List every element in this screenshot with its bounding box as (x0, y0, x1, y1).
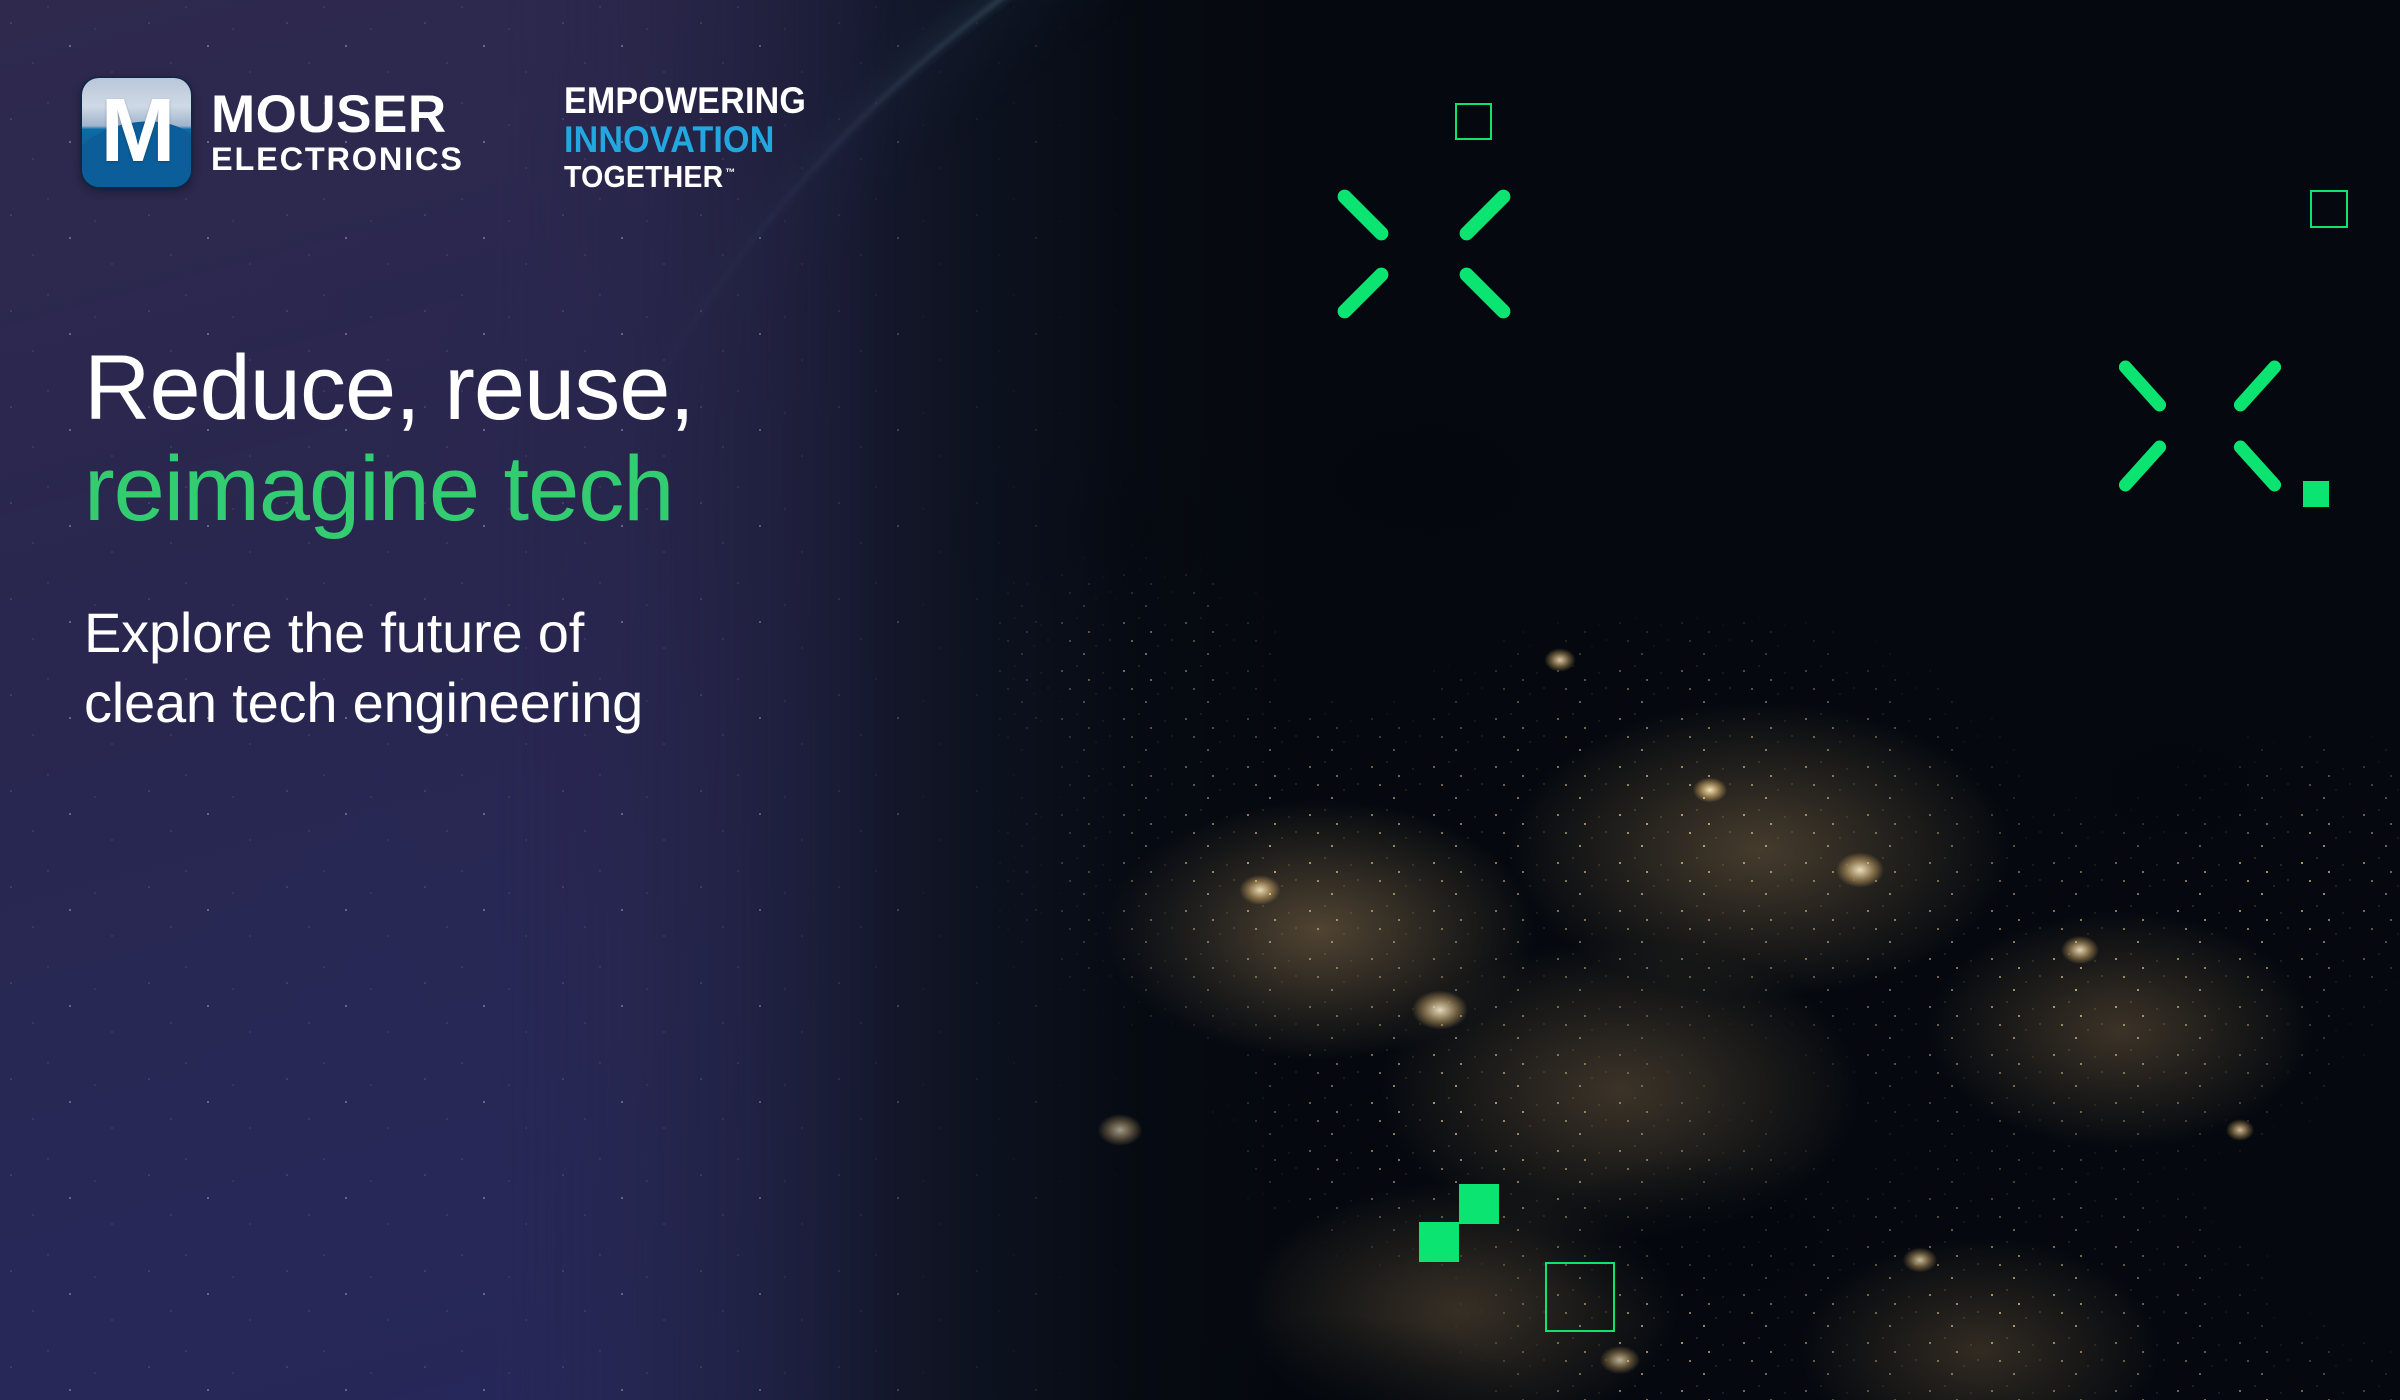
diamond-segment-bottom-left (2116, 438, 2168, 494)
x-mark-segment-top-right (1457, 187, 1514, 244)
square-bottom-solid-a-icon (1459, 1184, 1499, 1224)
hero-banner: M MOUSER ELECTRONICS EMPOWERING INNOVATI… (0, 0, 2400, 1400)
square-bottom-solid-b-icon (1419, 1222, 1459, 1262)
square-bottom-outline-icon (1545, 1262, 1615, 1332)
square-right-solid-icon (2303, 481, 2329, 507)
diamond-segment-top-right (2231, 358, 2283, 414)
x-mark-icon (1348, 178, 1500, 330)
diamond-segment-bottom-right (2231, 438, 2283, 494)
x-mark-segment-bottom-left (1335, 265, 1392, 322)
x-mark-segment-bottom-right (1457, 265, 1514, 322)
x-mark-segment-top-left (1335, 187, 1392, 244)
square-top-outline-icon (1455, 103, 1492, 140)
square-topright-outline-icon (2310, 190, 2348, 228)
diamond-mark-icon (2126, 352, 2274, 500)
decorative-shapes-layer (0, 0, 2400, 1400)
diamond-segment-top-left (2116, 358, 2168, 414)
